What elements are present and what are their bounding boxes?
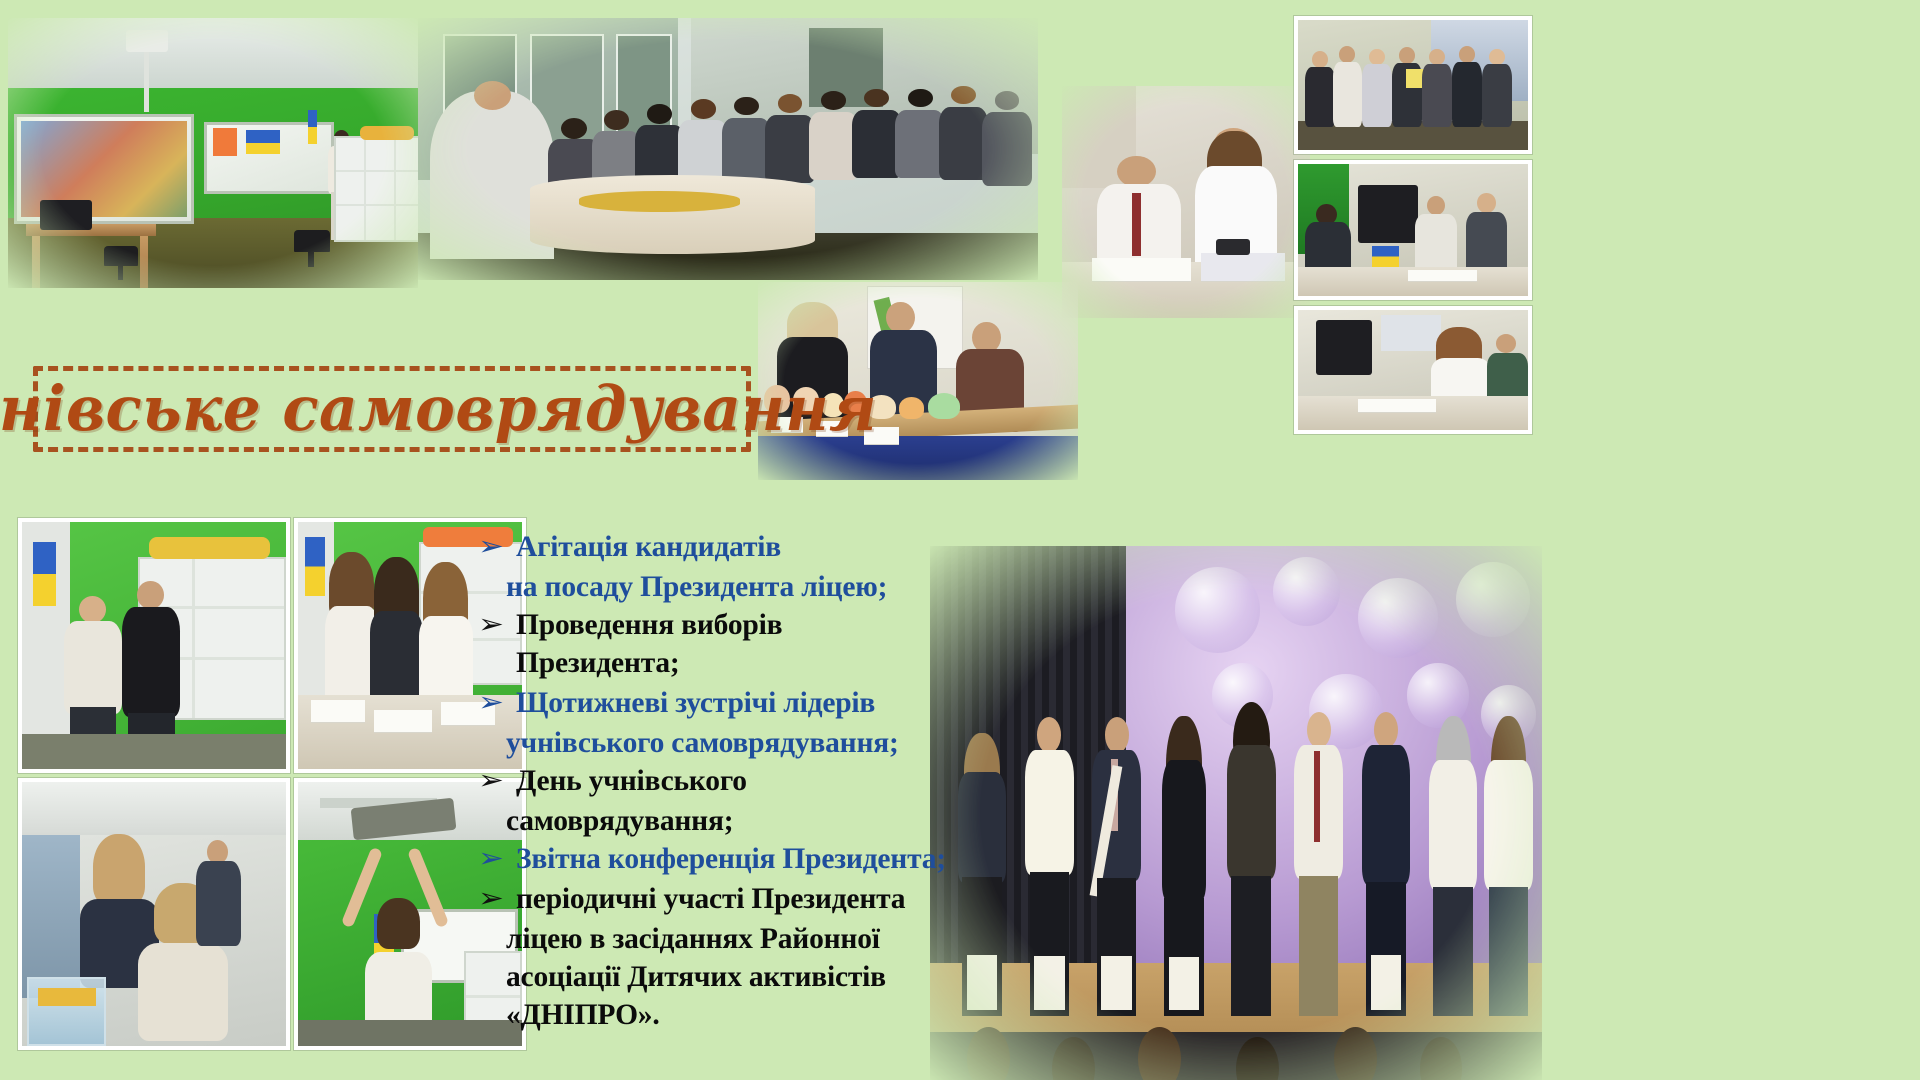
list-item: ➢ Проведення виборів Президента; — [478, 606, 948, 682]
list-item: ➢ Звітна конференція Президента; — [478, 840, 948, 878]
chevron-right-icon: ➢ — [478, 684, 522, 722]
list-item-label: День учнівського — [516, 762, 747, 800]
list-item-label: Щотижневі зустрічі лідерів — [516, 684, 875, 722]
chevron-right-icon: ➢ — [478, 528, 522, 566]
chevron-right-icon: ➢ — [478, 606, 522, 644]
list-item-continuation: «ДНІПРО». — [478, 996, 948, 1034]
list-item-continuation: асоціації Дитячих активістів — [478, 958, 948, 996]
photo-office-paperwork — [1294, 306, 1532, 434]
list-item: ➢ Агітація кандидатів — [478, 528, 948, 566]
photo-award-group — [1294, 16, 1532, 154]
page-title: Учнівське самоврядування — [0, 378, 877, 440]
chevron-right-icon: ➢ — [478, 880, 522, 918]
list-item-continuation: ліцею в засіданнях Районної — [478, 920, 948, 958]
list-item: ➢ Щотижневі зустрічі лідерів — [478, 684, 948, 722]
photo-president-signing — [1062, 86, 1310, 318]
list-item: ➢ День учнівського — [478, 762, 948, 800]
list-item-label: Проведення виборів Президента; — [516, 606, 948, 682]
slide-title-card: Учнівське самоврядування — [33, 366, 751, 452]
photo-stage-ceremony — [930, 546, 1542, 1080]
list-item-continuation: учнівського самоврядування; — [478, 724, 948, 762]
list-item-continuation: на посаду Президента ліцею; — [478, 568, 948, 606]
photo-assembly-round-table — [418, 18, 1038, 280]
chevron-right-icon: ➢ — [478, 762, 522, 800]
list-item-label: Агітація кандидатів — [516, 528, 781, 566]
photo-office-meeting — [1294, 160, 1532, 300]
bullet-list: ➢ Агітація кандидатів на посаду Президен… — [478, 528, 948, 1034]
photo-ballot-drop — [18, 778, 290, 1050]
presentation-slide: Учнівське самоврядування ➢ Агітація канд… — [0, 0, 1920, 1080]
list-item-continuation: самоврядування; — [478, 802, 948, 840]
photo-classroom-presentation — [8, 18, 418, 288]
photo-voting-ballot-box — [18, 518, 290, 773]
list-item: ➢ періодичні участі Президента — [478, 880, 948, 918]
chevron-right-icon: ➢ — [478, 840, 522, 878]
list-item-label: Звітна конференція Президента; — [516, 840, 946, 878]
list-item-label: періодичні участі Президента — [516, 880, 905, 918]
